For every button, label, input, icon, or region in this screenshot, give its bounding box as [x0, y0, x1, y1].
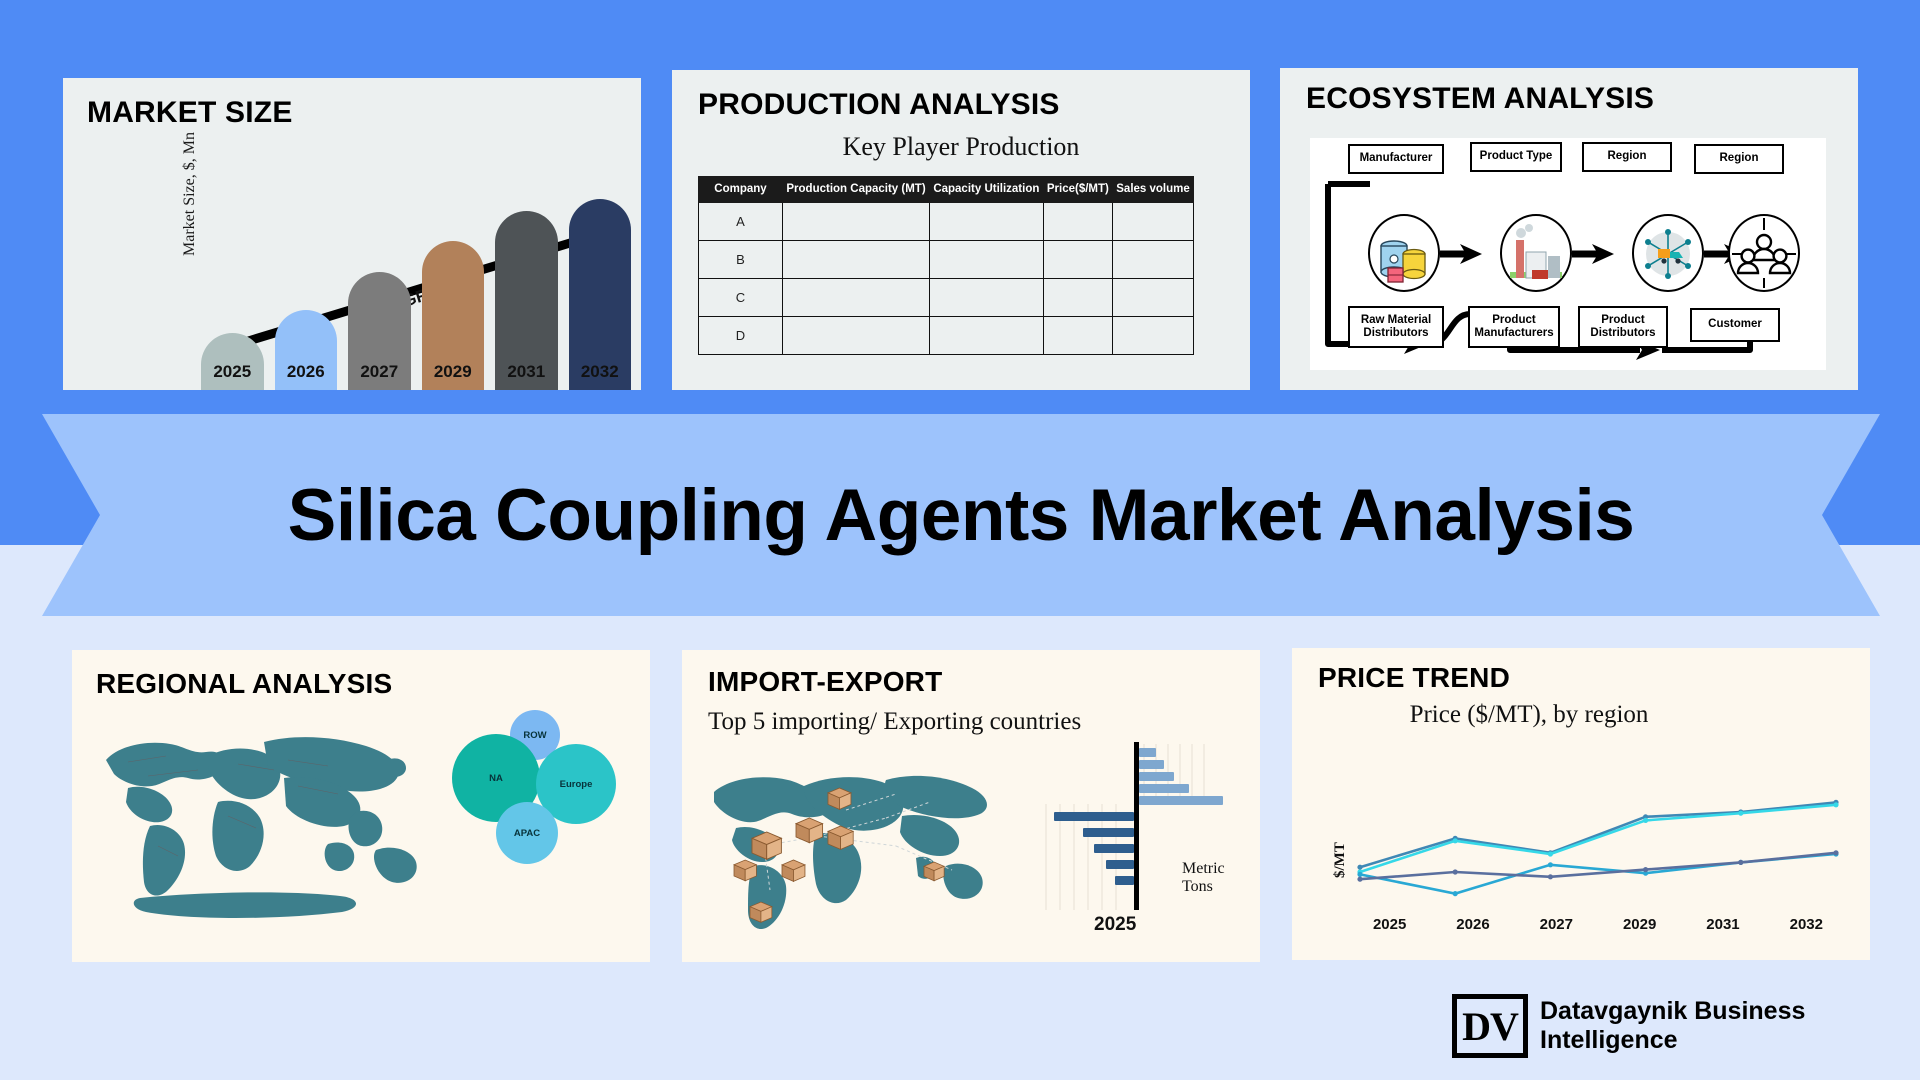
table-cell: A [699, 203, 783, 241]
price-trend-x-tick-label: 2031 [1681, 916, 1764, 933]
market-size-title: MARKET SIZE [87, 96, 293, 130]
table-header-row: CompanyProduction Capacity (MT)Capacity … [699, 177, 1194, 203]
customers-icon [1728, 214, 1800, 292]
table-cell: C [699, 279, 783, 317]
price-trend-data-point [1738, 860, 1743, 865]
table-header-cell: Company [699, 177, 783, 203]
table-cell [783, 317, 930, 355]
card-import-export: IMPORT-EXPORT Top 5 importing/ Exporting… [682, 650, 1260, 962]
price-trend-data-point [1548, 874, 1553, 879]
market-size-y-axis-label: Market Size, $, Mn [181, 132, 199, 256]
market-size-bar-year-label: 2031 [495, 362, 558, 382]
market-size-bar: 2032 [569, 199, 632, 390]
ecosystem-bottom-label-2: Product Distributors [1578, 306, 1668, 348]
card-market-size: MARKET SIZE Market Size, $, Mn CAGR 2025… [63, 78, 641, 390]
tornado-bar-importing [1139, 760, 1164, 769]
factory-icon [1500, 214, 1572, 292]
table-cell [783, 203, 930, 241]
price-trend-data-point [1453, 891, 1458, 896]
table-header-cell: Production Capacity (MT) [783, 177, 930, 203]
tornado-bar-importing [1139, 748, 1156, 757]
table-cell [1043, 203, 1112, 241]
market-size-bar-year-label: 2026 [275, 362, 338, 382]
price-trend-data-point [1548, 862, 1553, 867]
ecosystem-top-label-2: Region [1582, 142, 1672, 172]
price-trend-data-point [1833, 802, 1838, 807]
price-trend-data-point [1453, 869, 1458, 874]
table-row[interactable]: B [699, 241, 1194, 279]
price-trend-x-axis: 202520262027202920312032 [1348, 916, 1848, 933]
price-trend-x-tick-label: 2027 [1515, 916, 1598, 933]
ecosystem-flow-diagram: Manufacturer Product Type Region Region [1310, 138, 1826, 370]
logo-line-1: Datavgaynik Business [1540, 997, 1805, 1027]
tornado-bar-importing [1139, 772, 1174, 781]
production-analysis-title: PRODUCTION ANALYSIS [698, 88, 1060, 122]
production-analysis-subtitle: Key Player Production [672, 132, 1250, 162]
table-header-cell: Sales volume [1113, 177, 1194, 203]
table-cell: D [699, 317, 783, 355]
price-trend-data-point [1643, 867, 1648, 872]
logo-wordmark: Datavgaynik Business Intelligence [1540, 997, 1805, 1056]
key-player-production-table: CompanyProduction Capacity (MT)Capacity … [698, 176, 1194, 355]
table-cell [1043, 317, 1112, 355]
logo-mark-dv: DV [1452, 994, 1528, 1058]
table-cell [783, 241, 930, 279]
market-size-bar: 2025 [201, 333, 264, 390]
card-regional-analysis: REGIONAL ANALYSIS ROW NA [72, 650, 650, 962]
price-trend-data-point [1357, 872, 1362, 877]
market-size-bars: 202520262027202920312032 [201, 180, 631, 390]
market-size-bar: 2027 [348, 272, 411, 390]
tornado-year-label: 2025 [1094, 914, 1136, 936]
ecosystem-top-label-0: Manufacturer [1348, 144, 1444, 174]
ecosystem-analysis-title: ECOSYSTEM ANALYSIS [1306, 82, 1654, 116]
price-trend-data-point [1357, 877, 1362, 882]
world-map-icon [88, 716, 438, 931]
ecosystem-bottom-label-3: Customer [1690, 308, 1780, 342]
table-body: ABCD [699, 203, 1194, 355]
tornado-bar-exporting [1115, 876, 1134, 885]
market-size-bar: 2026 [275, 310, 338, 390]
import-export-title: IMPORT-EXPORT [708, 666, 942, 698]
table-row[interactable]: D [699, 317, 1194, 355]
bubble-apac: APAC [496, 802, 558, 864]
import-export-subtitle: Top 5 importing/ Exporting countries [708, 708, 1081, 736]
regional-analysis-title: REGIONAL ANALYSIS [96, 668, 392, 700]
tornado-bar-exporting [1106, 860, 1135, 869]
price-trend-data-point [1643, 818, 1648, 823]
market-size-bar: 2031 [495, 211, 558, 390]
import-export-tornado-chart: Metric Tons 2025 [1022, 742, 1242, 942]
price-trend-title: PRICE TREND [1318, 662, 1510, 694]
table-cell [1043, 279, 1112, 317]
tornado-bar-importing [1139, 784, 1189, 793]
card-production-analysis: PRODUCTION ANALYSIS Key Player Productio… [672, 70, 1250, 390]
table-cell [1113, 241, 1194, 279]
tornado-bar-exporting [1054, 812, 1134, 821]
market-size-bar: 2029 [422, 241, 485, 390]
market-size-bar-year-label: 2029 [422, 362, 485, 382]
price-trend-data-point [1738, 811, 1743, 816]
tornado-bar-importing [1139, 796, 1223, 805]
price-trend-y-axis-label: $/MT [1332, 842, 1349, 878]
page-title: Silica Coupling Agents Market Analysis [42, 414, 1880, 616]
price-trend-x-tick-label: 2025 [1348, 916, 1431, 933]
table-cell [930, 203, 1044, 241]
market-size-bar-year-label: 2025 [201, 362, 264, 382]
ecosystem-bottom-label-1: Product Manufacturers [1468, 306, 1560, 348]
logo-line-2: Intelligence [1540, 1026, 1805, 1056]
tornado-unit-label: Metric Tons [1182, 860, 1242, 896]
company-logo: DV Datavgaynik Business Intelligence [1452, 986, 1872, 1066]
table-cell [930, 279, 1044, 317]
ecosystem-top-label-1: Product Type [1470, 142, 1562, 172]
price-trend-x-tick-label: 2032 [1765, 916, 1848, 933]
card-price-trend: PRICE TREND Price ($/MT), by region $/MT… [1292, 648, 1870, 960]
table-cell: B [699, 241, 783, 279]
price-trend-series-line [1360, 853, 1836, 879]
price-trend-series-line [1360, 805, 1836, 872]
distribution-network-icon [1632, 214, 1704, 292]
table-row[interactable]: C [699, 279, 1194, 317]
card-ecosystem-analysis: ECOSYSTEM ANALYSIS [1280, 68, 1858, 390]
tornado-bars [1022, 742, 1242, 942]
table-cell [930, 317, 1044, 355]
price-trend-lines [1348, 788, 1848, 908]
market-size-bar-year-label: 2027 [348, 362, 411, 382]
trade-routes-map-icon [700, 750, 1010, 935]
table-cell [1113, 203, 1194, 241]
infographic-canvas: MARKET SIZE Market Size, $, Mn CAGR 2025… [0, 0, 1920, 1080]
price-trend-data-point [1548, 851, 1553, 856]
price-trend-data-point [1453, 838, 1458, 843]
table-cell [1113, 317, 1194, 355]
price-trend-data-point [1833, 850, 1838, 855]
price-trend-subtitle: Price ($/MT), by region [1364, 700, 1694, 730]
ecosystem-bottom-label-0: Raw Material Distributors [1348, 306, 1444, 348]
regional-bubble-chart: ROW NA Europe APAC [452, 710, 637, 925]
table-row[interactable]: A [699, 203, 1194, 241]
market-size-bar-year-label: 2032 [569, 362, 632, 382]
ecosystem-top-label-3: Region [1694, 144, 1784, 174]
table-cell [930, 241, 1044, 279]
table-cell [1113, 279, 1194, 317]
barrels-icon [1368, 214, 1440, 292]
price-trend-data-point [1357, 865, 1362, 870]
tornado-bar-exporting [1083, 828, 1134, 837]
table-header-cell: Capacity Utilization [930, 177, 1044, 203]
table-cell [783, 279, 930, 317]
table-header-cell: Price($/MT) [1043, 177, 1112, 203]
price-trend-x-tick-label: 2029 [1598, 916, 1681, 933]
price-trend-x-tick-label: 2026 [1431, 916, 1514, 933]
table-cell [1043, 241, 1112, 279]
tornado-bar-exporting [1094, 844, 1134, 853]
